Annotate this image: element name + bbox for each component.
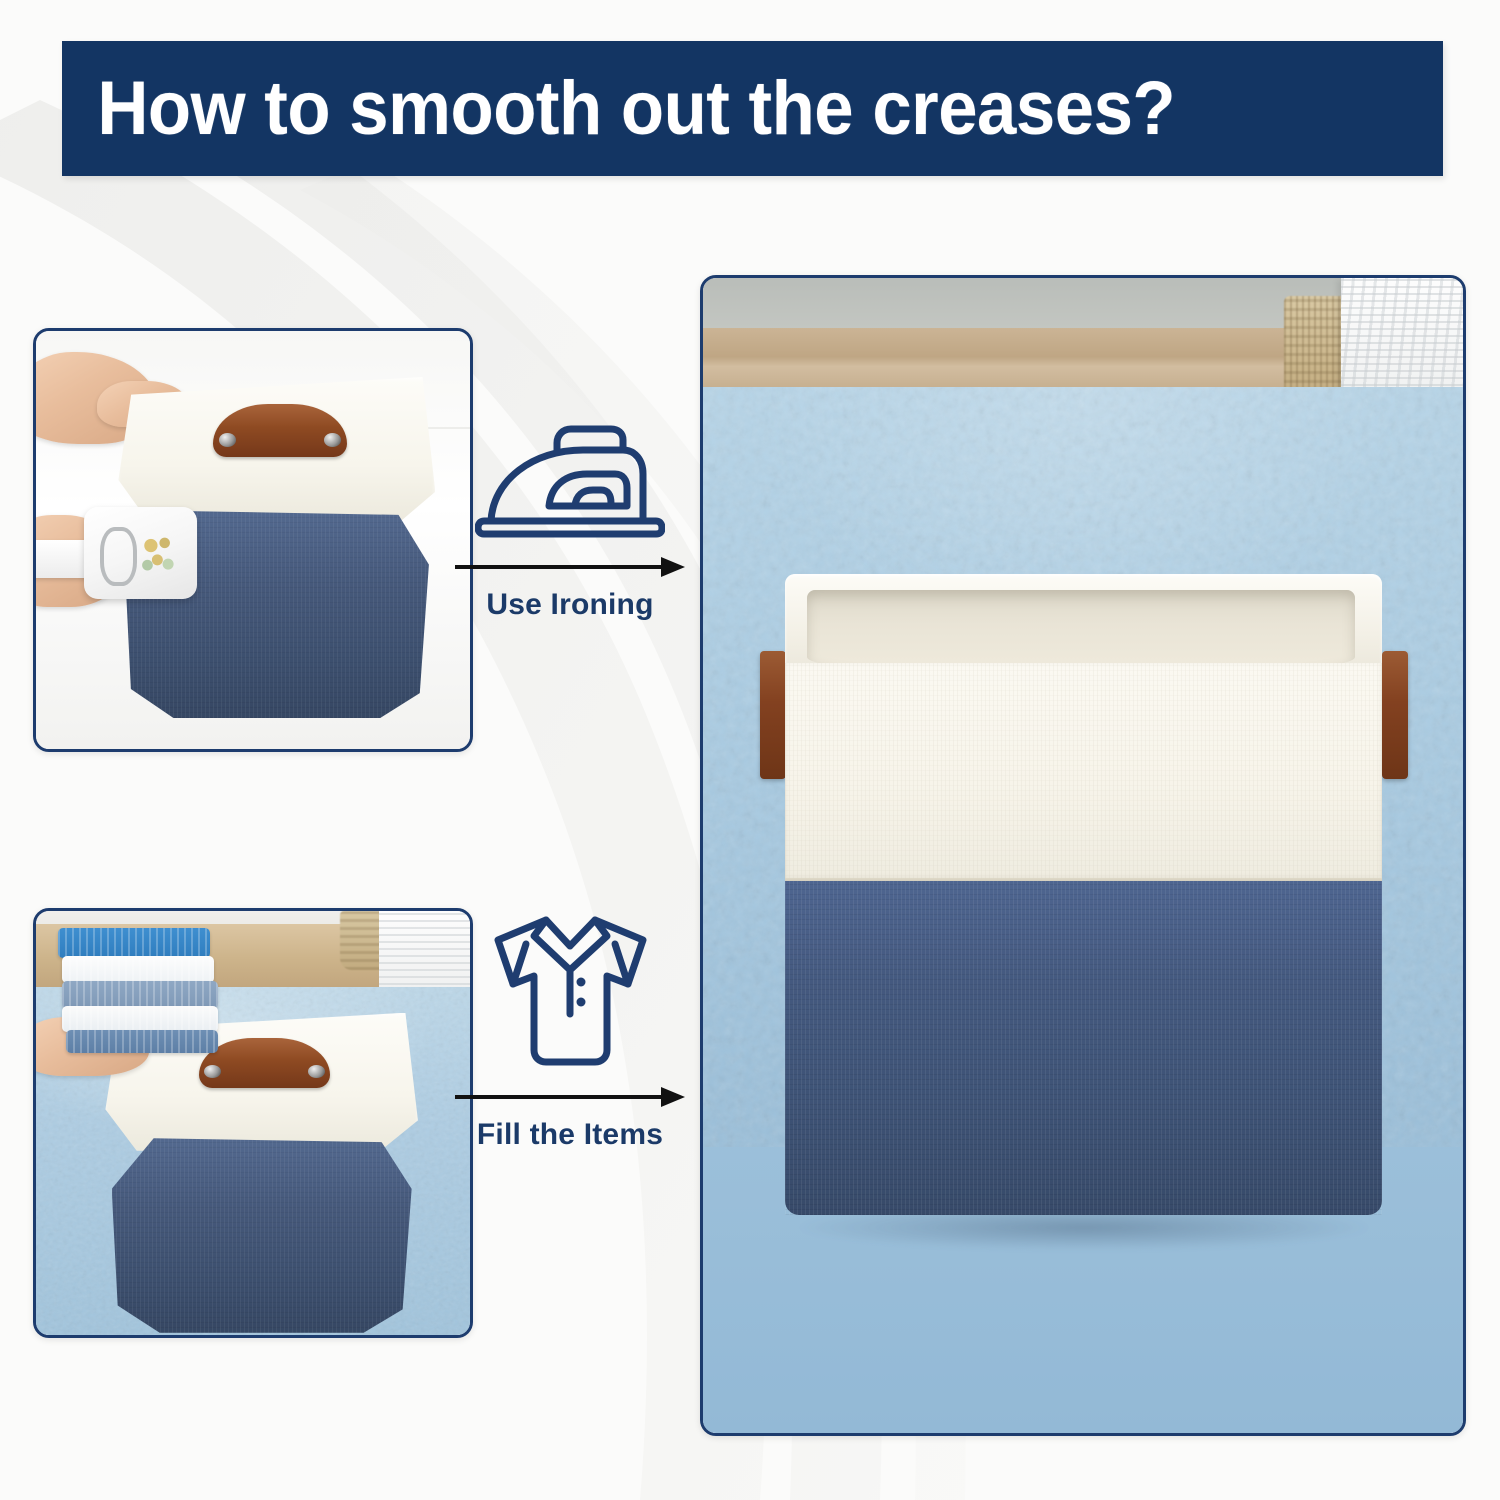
arrow-right-icon — [455, 554, 685, 580]
photo-steaming-basket — [33, 328, 473, 752]
basket-navy-section — [112, 1138, 412, 1333]
iron-icon — [475, 424, 665, 540]
storage-basket — [776, 574, 1392, 1215]
photo-finished-basket — [700, 275, 1466, 1436]
step-use-ironing: Use Ironing — [455, 420, 685, 622]
photo-filling-basket — [33, 908, 473, 1338]
arrow-right-icon — [455, 1084, 685, 1110]
towel-denim-bottom — [66, 1030, 218, 1053]
header-banner: How to smooth out the creases? — [62, 41, 1443, 176]
step-label-ironing: Use Ironing — [455, 588, 685, 622]
step-fill-the-items: Fill the Items — [455, 950, 685, 1152]
basket-navy-section — [785, 881, 1382, 1214]
towel-grey-blue — [62, 981, 218, 1009]
polo-shirt-icon — [483, 910, 658, 1070]
garment-steamer — [84, 507, 197, 599]
steamer-floral-print — [138, 527, 181, 580]
towel-blue-top — [58, 928, 210, 958]
towel-white — [62, 956, 214, 984]
basket-cream-section — [785, 663, 1382, 881]
towel-white-lower — [62, 1006, 218, 1031]
step-label-fill: Fill the Items — [455, 1118, 685, 1152]
leather-handle-right — [1382, 651, 1408, 779]
steamer-vent-ring — [100, 527, 137, 586]
collapsed-basket-fill — [105, 1013, 417, 1327]
page-title: How to smooth out the creases? — [62, 71, 1175, 147]
leather-handle-left — [760, 651, 786, 779]
